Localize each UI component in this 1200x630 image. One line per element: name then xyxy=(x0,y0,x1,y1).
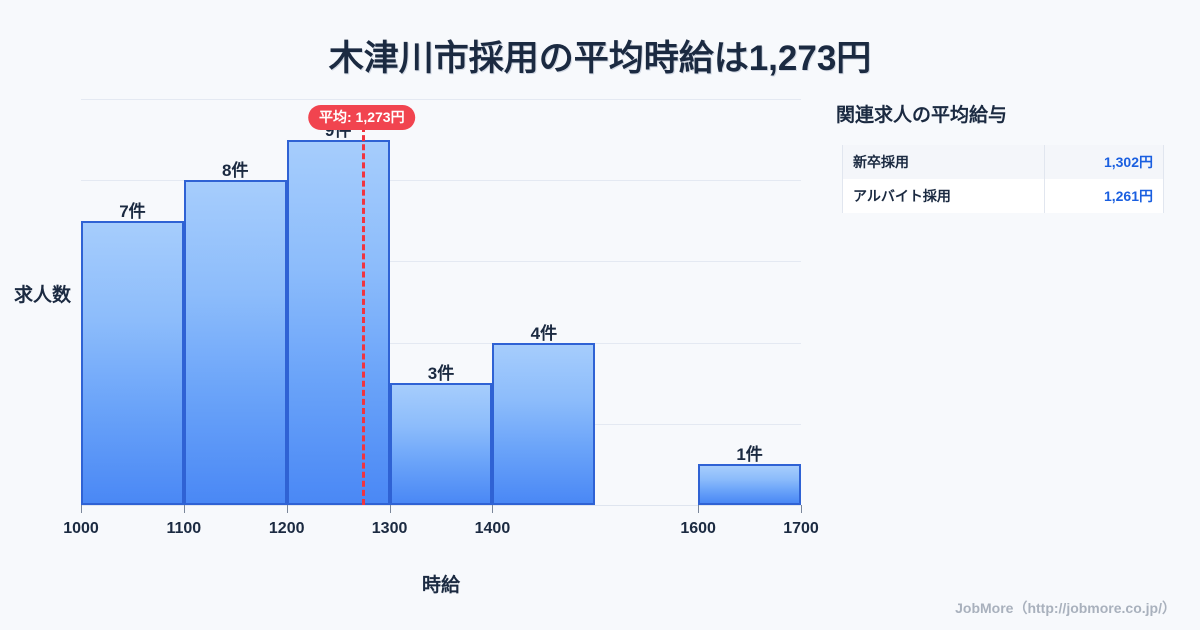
x-axis-tick-label: 1300 xyxy=(372,520,408,538)
x-axis-tick-label: 1100 xyxy=(166,520,201,538)
y-axis-title: 求人数 xyxy=(14,280,71,307)
related-salary-title: 関連求人の平均給与 xyxy=(836,100,1166,127)
salary-row-label: 新卒採用 xyxy=(843,145,1045,179)
x-axis-tick-mark xyxy=(698,505,699,513)
salary-row-label: アルバイト採用 xyxy=(843,179,1045,213)
x-axis-tick-mark xyxy=(390,505,391,513)
chart-plot-area: 7件8件9件3件4件1件平均: 1,273円 10001100120013001… xyxy=(0,0,1200,630)
salary-row-value: 1,261円 xyxy=(1044,179,1163,213)
x-axis-tick-label: 1600 xyxy=(680,520,716,538)
x-axis-tick-mark xyxy=(287,505,288,513)
table-row: 新卒採用1,302円 xyxy=(843,145,1164,179)
table-row: アルバイト採用1,261円 xyxy=(843,179,1164,213)
x-axis-tick-label: 1700 xyxy=(783,520,819,538)
x-axis-tick-mark xyxy=(184,505,185,513)
x-axis-tick-label: 1200 xyxy=(269,520,305,538)
x-axis-ticks: 1000110012001300140016001700 xyxy=(0,0,1200,630)
x-axis-title: 時給 xyxy=(81,570,801,597)
x-axis-tick-label: 1400 xyxy=(475,520,511,538)
x-axis-tick-label: 1000 xyxy=(63,520,99,538)
chart-page: 木津川市採用の平均時給は1,273円 7件8件9件3件4件1件平均: 1,273… xyxy=(0,0,1200,630)
x-axis-tick-mark xyxy=(801,505,802,513)
x-axis-tick-mark xyxy=(492,505,493,513)
related-salary-panel: 関連求人の平均給与 新卒採用1,302円アルバイト採用1,261円 xyxy=(836,100,1166,213)
salary-row-value: 1,302円 xyxy=(1044,145,1163,179)
x-axis-tick-mark xyxy=(81,505,82,513)
related-salary-table: 新卒採用1,302円アルバイト採用1,261円 xyxy=(842,145,1164,213)
footer-credit: JobMore（http://jobmore.co.jp/） xyxy=(955,598,1176,618)
